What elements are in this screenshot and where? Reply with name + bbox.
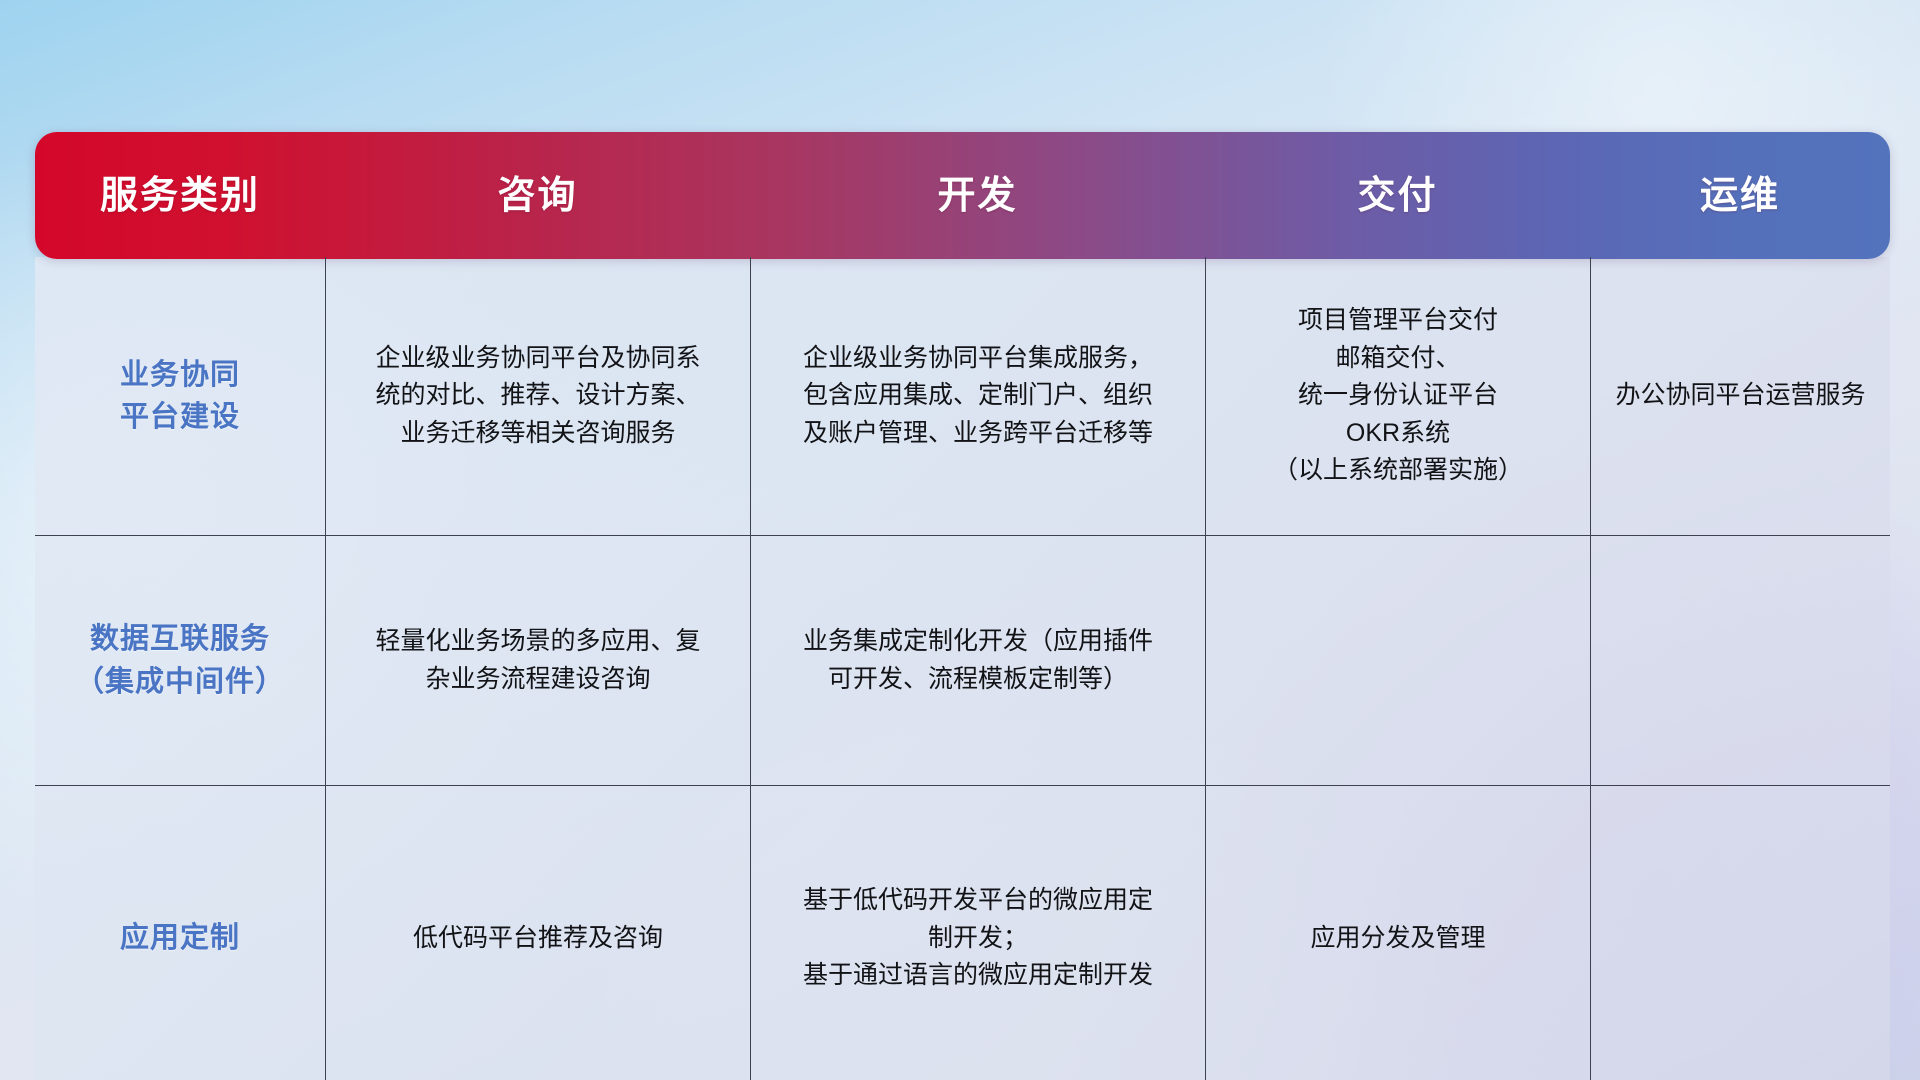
development-text: 业务集成定制化开发（应用插件 可开发、流程模板定制等）	[803, 623, 1153, 698]
operations-text: 办公协同平台运营服务	[1615, 377, 1865, 415]
row-delivery-cell: 应用分发及管理	[1205, 786, 1590, 1080]
consulting-text: 低代码平台推荐及咨询	[413, 920, 663, 958]
consulting-text: 企业级业务协同平台及协同系 统的对比、推荐、设计方案、 业务迁移等相关咨询服务	[375, 340, 700, 453]
table-header-row: 服务类别 咨询 开发 交付 运维	[35, 132, 1890, 259]
table-row: 数据互联服务 （集成中间件） 轻量化业务场景的多应用、复 杂业务流程建设咨询 业…	[35, 535, 1890, 785]
row-category-cell: 业务协同 平台建设	[35, 257, 325, 535]
row-development-cell: 业务集成定制化开发（应用插件 可开发、流程模板定制等）	[750, 536, 1205, 785]
row-development-cell: 基于低代码开发平台的微应用定 制开发； 基于通过语言的微应用定制开发	[750, 786, 1205, 1080]
consulting-text: 轻量化业务场景的多应用、复 杂业务流程建设咨询	[375, 623, 700, 698]
row-category-label: 业务协同 平台建设	[120, 354, 240, 438]
delivery-text: 应用分发及管理	[1310, 920, 1485, 958]
table-header-cell-delivery: 交付	[1205, 177, 1590, 215]
row-operations-cell: 办公协同平台运营服务	[1590, 257, 1890, 535]
service-matrix-table: 服务类别 咨询 开发 交付 运维 业务协同 平台建设 企业级业务协同平台及协同系…	[35, 132, 1890, 957]
delivery-text: 项目管理平台交付 邮箱交付、 统一身份认证平台 OKR系统 （以上系统部署实施）	[1273, 302, 1523, 490]
development-text: 企业级业务协同平台集成服务， 包含应用集成、定制门户、组织 及账户管理、业务跨平…	[803, 340, 1153, 453]
row-delivery-cell: 项目管理平台交付 邮箱交付、 统一身份认证平台 OKR系统 （以上系统部署实施）	[1205, 257, 1590, 535]
table-body: 业务协同 平台建设 企业级业务协同平台及协同系 统的对比、推荐、设计方案、 业务…	[35, 257, 1890, 1080]
row-category-cell: 应用定制	[35, 786, 325, 1080]
table-row: 业务协同 平台建设 企业级业务协同平台及协同系 统的对比、推荐、设计方案、 业务…	[35, 257, 1890, 535]
row-category-cell: 数据互联服务 （集成中间件）	[35, 536, 325, 785]
row-delivery-cell	[1205, 536, 1590, 785]
table-header-cell-development: 开发	[750, 177, 1205, 215]
row-consulting-cell: 企业级业务协同平台及协同系 统的对比、推荐、设计方案、 业务迁移等相关咨询服务	[325, 257, 750, 535]
table-header-cell-service-category: 服务类别	[35, 177, 325, 215]
row-consulting-cell: 低代码平台推荐及咨询	[325, 786, 750, 1080]
development-text: 基于低代码开发平台的微应用定 制开发； 基于通过语言的微应用定制开发	[803, 882, 1153, 995]
row-consulting-cell: 轻量化业务场景的多应用、复 杂业务流程建设咨询	[325, 536, 750, 785]
row-category-label: 应用定制	[120, 917, 240, 959]
table-header-cell-consulting: 咨询	[325, 177, 750, 215]
row-operations-cell	[1590, 786, 1890, 1080]
row-category-label: 数据互联服务 （集成中间件）	[75, 618, 285, 702]
table-header-cell-operations: 运维	[1590, 177, 1890, 215]
table-row: 应用定制 低代码平台推荐及咨询 基于低代码开发平台的微应用定 制开发； 基于通过…	[35, 785, 1890, 1080]
row-development-cell: 企业级业务协同平台集成服务， 包含应用集成、定制门户、组织 及账户管理、业务跨平…	[750, 257, 1205, 535]
row-operations-cell	[1590, 536, 1890, 785]
